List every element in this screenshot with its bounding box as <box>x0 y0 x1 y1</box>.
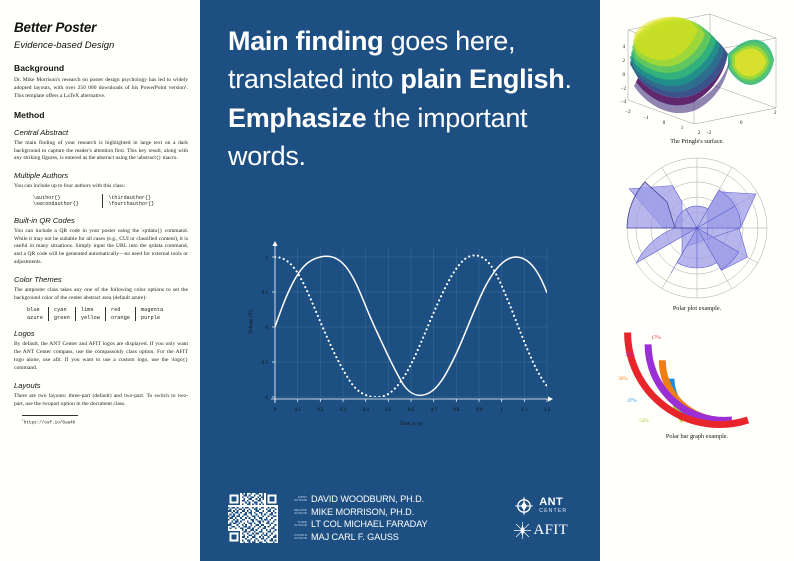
footnote-divider <box>22 415 78 416</box>
polar-bar-graph-figure: 54% 47% 36% 29% 17% Polar bar graph exam… <box>606 322 788 444</box>
color-option: lime <box>75 307 105 314</box>
footnote: 1https://osf.io/6ua4k <box>22 418 188 425</box>
color-themes-paragraph: The antposter class takes any one of the… <box>14 287 188 303</box>
svg-text:0.2: 0.2 <box>317 408 324 413</box>
afit-wordmark: AFIT <box>533 522 568 539</box>
central-abstract-paragraph: The main finding of your research is hig… <box>14 140 188 164</box>
polar-bar-label-3: 29% <box>625 352 635 358</box>
polar-bar-label-4: 17% <box>651 335 661 341</box>
color-option: cyan <box>48 307 75 314</box>
svg-text:−2: −2 <box>625 110 631 115</box>
section-heading-background: Background <box>14 63 188 73</box>
svg-text:0: 0 <box>266 326 269 331</box>
headline-plain-2: . <box>564 64 571 94</box>
sine-plot-svg: 00.10.2 0.30.40.5 0.60.70.8 0.911.1 1.2 … <box>239 239 569 434</box>
subsection-heading-layouts: Layouts <box>14 381 188 390</box>
svg-text:2: 2 <box>623 59 626 64</box>
svg-text:−2: −2 <box>706 131 712 136</box>
list-item: FIRSTAUTHOR DAVID WOODBURN, PH.D. <box>288 494 428 504</box>
svg-text:0.9: 0.9 <box>476 408 483 413</box>
afit-logo: AFIT <box>513 521 568 540</box>
svg-text:0.6: 0.6 <box>408 408 415 413</box>
left-text-column: Better Poster Evidence-based Design Back… <box>0 0 200 561</box>
polar-bar-label-1: 47% <box>627 398 637 404</box>
color-option: blue <box>22 307 48 314</box>
color-option: orange <box>105 314 135 321</box>
ant-logo-line2: CENTER <box>539 509 567 514</box>
author-macro-cell: \fourthauthor{} <box>103 201 178 208</box>
author-rank-first: FIRSTAUTHOR <box>288 496 307 503</box>
polar-plot-figure: Polar plot example. <box>606 150 788 318</box>
section-heading-method: Method <box>14 110 188 120</box>
plot-grid <box>275 247 547 397</box>
compass-icon <box>514 496 534 516</box>
polar-bar-label-2: 36% <box>618 376 628 382</box>
headline-bold-1: Main finding <box>228 26 383 56</box>
layouts-paragraph: There are two layouts: three-part (defau… <box>14 393 188 409</box>
svg-text:1: 1 <box>681 126 684 131</box>
center-footer: FIRSTAUTHOR DAVID WOODBURN, PH.D. SECOND… <box>228 493 580 549</box>
pringle-surface-svg: 420 −2−4 −2−10 12 −202 The Pringle's sur… <box>606 8 788 146</box>
polar-plot-svg: Polar plot example. <box>606 150 788 318</box>
footnote-url[interactable]: https://osf.io/6ua4k <box>24 421 76 426</box>
table-row: blue cyan lime red magenta <box>22 307 168 314</box>
subsection-heading-central-abstract: Central Abstract <box>14 128 188 137</box>
page-title: Better Poster <box>14 20 188 35</box>
svg-text:−2: −2 <box>621 87 627 92</box>
figure-caption: Polar bar graph example. <box>666 433 729 440</box>
svg-text:1: 1 <box>500 408 503 413</box>
figure-caption: The Pringle's surface. <box>670 138 724 145</box>
polar-bar-svg: 54% 47% 36% 29% 17% Polar bar graph exam… <box>606 322 788 444</box>
svg-text:0.8: 0.8 <box>453 408 460 413</box>
author-name-third: LT COL MICHAEL FARADAY <box>311 519 428 529</box>
author-macro-cell: \thirdauthor{} <box>103 194 178 201</box>
svg-text:0.5: 0.5 <box>385 408 392 413</box>
svg-text:0.4: 0.4 <box>363 408 370 413</box>
plot-axes <box>271 241 553 403</box>
svg-text:0.1: 0.1 <box>295 408 302 413</box>
x-tick-labels: −2−10 12 <box>625 110 700 136</box>
figure-caption: Polar plot example. <box>673 305 722 312</box>
svg-text:−1: −1 <box>643 116 649 121</box>
sine-cosine-figure: 00.10.2 0.30.40.5 0.60.70.8 0.911.1 1.2 … <box>228 179 580 493</box>
color-option: purple <box>135 314 168 321</box>
author-macro-table: \author{} \thirdauthor{} \secondauthor{}… <box>28 194 178 208</box>
svg-text:0: 0 <box>740 121 743 126</box>
svg-text:−4: −4 <box>621 100 627 105</box>
svg-text:0.7: 0.7 <box>431 408 438 413</box>
plot-ticks <box>272 257 547 402</box>
svg-text:2: 2 <box>698 131 701 136</box>
svg-text:1: 1 <box>266 256 269 261</box>
author-rank-fourth: FOURTHAUTHOR <box>288 534 307 541</box>
background-paragraph: Dr. Mike Morrison's research on poster d… <box>14 77 188 101</box>
x-tick-labels: 00.10.2 0.30.40.5 0.60.70.8 0.911.1 1.2 <box>274 408 551 413</box>
svg-text:0: 0 <box>623 73 626 78</box>
qr-code[interactable] <box>228 493 278 543</box>
svg-text:0: 0 <box>274 408 277 413</box>
table-row: \secondauthor{} \fourthauthor{} <box>28 201 178 208</box>
list-item: THIRDAUTHOR LT COL MICHAEL FARADAY <box>288 519 428 529</box>
author-macro-cell: \author{} <box>28 194 103 201</box>
color-option: green <box>48 314 75 321</box>
list-item: FOURTHAUTHOR MAJ CARL F. GAUSS <box>288 532 428 542</box>
afit-star-icon <box>513 521 532 540</box>
color-option: azure <box>22 314 48 321</box>
right-figure-column: 420 −2−4 −2−10 12 −202 The Pringle's sur… <box>600 0 794 561</box>
headline-bold-3: Emphasize <box>228 103 366 133</box>
surface-mesh <box>630 17 774 114</box>
svg-text:4: 4 <box>623 45 626 50</box>
subsection-heading-color-themes: Color Themes <box>14 275 188 284</box>
svg-text:0.5: 0.5 <box>262 291 269 296</box>
subsection-heading-multiple-authors: Multiple Authors <box>14 171 188 180</box>
svg-text:0.3: 0.3 <box>340 408 347 413</box>
headline-bold-2: plain English <box>400 64 564 94</box>
ant-center-logo: ANT CENTER <box>514 496 567 516</box>
svg-text:0: 0 <box>663 121 666 126</box>
table-row: azure green yellow orange purple <box>22 314 168 321</box>
multiple-authors-paragraph: You can include up to four authors with … <box>14 183 188 191</box>
svg-text:1.2: 1.2 <box>544 408 551 413</box>
svg-text:−1: −1 <box>263 396 269 401</box>
polar-bar-3 <box>648 344 732 420</box>
author-name-fourth: MAJ CARL F. GAUSS <box>311 532 399 542</box>
ant-center-wordmark: ANT CENTER <box>539 497 567 514</box>
author-macro-cell: \secondauthor{} <box>28 201 103 208</box>
author-rank-second: SECONDAUTHOR <box>288 509 307 516</box>
color-options-table: blue cyan lime red magenta azure green y… <box>22 307 168 321</box>
subsection-heading-qr-codes: Built-in QR Codes <box>14 216 188 225</box>
subsection-heading-logos: Logos <box>14 329 188 338</box>
author-name-first: DAVID WOODBURN, PH.D. <box>311 494 424 504</box>
color-option: magenta <box>135 307 168 314</box>
x-axis-label: Time, tₖ (s) <box>400 422 423 427</box>
center-abstract-panel: Main finding goes here, translated into … <box>200 0 600 561</box>
svg-text:2: 2 <box>774 111 777 116</box>
main-finding-headline: Main finding goes here, translated into … <box>228 22 580 175</box>
y-axis-label: Voltage (V) <box>249 310 254 334</box>
y-tick-labels: 10.50 −0.5−1 <box>259 256 269 401</box>
author-rank-third: THIRDAUTHOR <box>288 521 307 528</box>
ant-logo-line1: ANT <box>539 497 567 508</box>
color-option: yellow <box>75 314 105 321</box>
polar-bars <box>628 333 748 425</box>
color-option: red <box>105 307 135 314</box>
polar-bar-label-0: 54% <box>639 418 649 424</box>
pringle-surface-figure: 420 −2−4 −2−10 12 −202 The Pringle's sur… <box>606 8 788 146</box>
list-item: SECONDAUTHOR MIKE MORRISON, PH.D. <box>288 507 428 517</box>
logo-group: ANT CENTER AFIT <box>513 496 574 540</box>
qr-codes-paragraph: You can include a QR code in your poster… <box>14 228 188 267</box>
logos-paragraph: By default, the ANT Center and AFIT logo… <box>14 341 188 373</box>
svg-text:−0.5: −0.5 <box>259 361 269 366</box>
qr-and-authors: FIRSTAUTHOR DAVID WOODBURN, PH.D. SECOND… <box>228 493 428 543</box>
svg-text:1.1: 1.1 <box>521 408 528 413</box>
table-row: \author{} \thirdauthor{} <box>28 194 178 201</box>
author-list: FIRSTAUTHOR DAVID WOODBURN, PH.D. SECOND… <box>288 494 428 542</box>
author-name-second: MIKE MORRISON, PH.D. <box>311 507 414 517</box>
z-tick-labels: 420 −2−4 <box>621 45 627 105</box>
poster-root: Better Poster Evidence-based Design Back… <box>0 0 794 561</box>
page-subtitle: Evidence-based Design <box>14 40 188 51</box>
